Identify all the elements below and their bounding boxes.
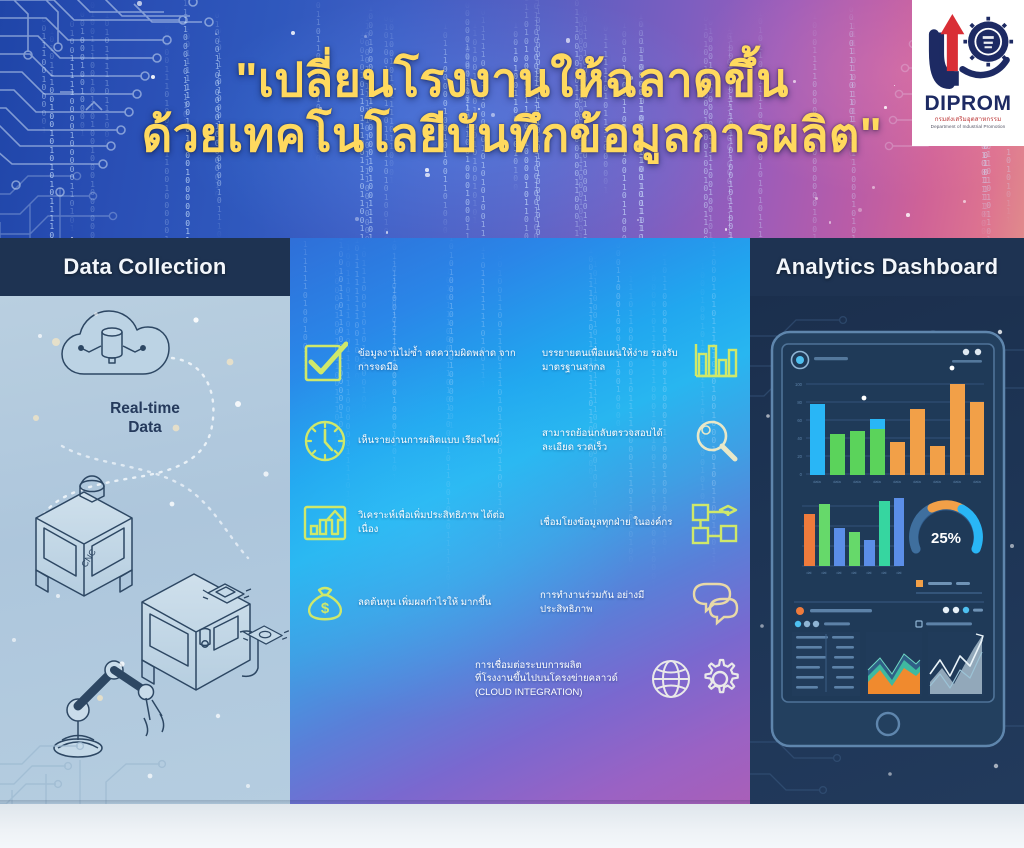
clock-icon — [302, 418, 348, 464]
factory-illustration: CNC — [0, 296, 290, 804]
magnifier-icon — [692, 418, 740, 464]
cloud-integration-line2: ที่โรงงานขึ้นไปบนโครงข่ายคลาวด์ — [475, 672, 640, 686]
bar-chart-icon — [692, 338, 740, 384]
bar-chart-up-icon — [302, 500, 348, 546]
cloud-integration-line3: (CLOUD INTEGRATION) — [475, 686, 640, 700]
logo-thai-name: กรมส่งเสริมอุตสาหกรรม — [935, 116, 1002, 124]
cloud-integration-text: การเชื่อมต่อระบบการผลิต ที่โรงงานขึ้นไปบ… — [475, 659, 640, 700]
logo-wordmark: DIPROM — [925, 93, 1012, 114]
analytics-dashboard-panel: 10080 6040 200 datada — [750, 296, 1024, 804]
footer-strip — [0, 804, 1024, 848]
benefit-item-5: บรรยายตนเพื่อแผนให้ง่าย รองรับมาตรฐานสาก… — [522, 338, 740, 384]
benefit-text-6: สามารถย้อนกลับตรวจสอบได้ ละเอียด รวดเร็ว — [542, 427, 682, 454]
data-collection-panel: CNC — [0, 296, 290, 804]
benefit-text-1: ข้อมูลงานไม่ซ้ำ ลดความผิดพลาด จากการจดมื… — [358, 347, 520, 374]
svg-text:$: $ — [321, 600, 330, 617]
benefit-text-5: บรรยายตนเพื่อแผนให้ง่าย รองรับมาตรฐานสาก… — [542, 347, 682, 374]
realtime-data-line2: Data — [0, 419, 290, 438]
title-line-1: "เปลี่ยนโรงงานให้ฉลาดขึ้น — [235, 53, 788, 106]
benefit-item-6: สามารถย้อนกลับตรวจสอบได้ ละเอียด รวดเร็ว — [522, 418, 740, 464]
benefit-item-1: ข้อมูลงานไม่ซ้ำ ลดความผิดพลาด จากการจดมื… — [302, 338, 520, 384]
logo-english-name: Department of Industrial Promotion — [931, 124, 1006, 130]
benefit-item-7: เชื่อมโยงข้อมูลทุกฝ่าย ในองค์กร — [522, 500, 740, 546]
diprom-logo-mark-icon — [922, 6, 1014, 92]
benefit-text-4: ลดต้นทุน เพิ่มผลกำไรให้ มากขึ้น — [358, 596, 491, 610]
benefit-item-8: การทำงานร่วมกัน อย่างมีประสิทธิภาพ — [522, 580, 740, 626]
panel-title-right: Analytics Dashboard — [776, 254, 999, 280]
benefit-item-3: วิเคราะห์เพื่อเพิ่มประสิทธิภาพ ได้ต่อเนื… — [302, 500, 520, 546]
infographic-poster: 0 1 1 1 1 1 1 0 1 0 1 1 1 1 0 0 0 0 0 1 … — [0, 0, 1024, 848]
benefit-item-2: เห็นรายงานการผลิตแบบ เรียลไทม์ — [302, 418, 520, 464]
realtime-data-label: Real-time Data — [0, 400, 290, 438]
check-box-icon — [302, 338, 348, 384]
panel-header-analytics-dashboard: Analytics Dashboard — [750, 238, 1024, 296]
benefit-item-cloud-integration: การเชื่อมต่อระบบการผลิต ที่โรงงานขึ้นไปบ… — [302, 656, 742, 702]
title-line-2: ด้วยเทคโนโลยีบันทึกข้อมูลการผลิต" — [0, 107, 1024, 162]
benefit-text-8: การทำงานร่วมกัน อย่างมีประสิทธิภาพ — [540, 589, 680, 616]
gear-icon — [698, 656, 742, 702]
benefit-item-4: $ ลดต้นทุน เพิ่มผลกำไรให้ มากขึ้น — [302, 580, 520, 626]
benefit-text-3: วิเคราะห์เพื่อเพิ่มประสิทธิภาพ ได้ต่อเนื… — [358, 509, 520, 536]
globe-icon — [648, 656, 694, 702]
benefits-panel: 1 1 0 0 1 0 1 1 0 1 1 0 0 0 1 1 0 0 0 0 … — [290, 238, 750, 804]
page-title: "เปลี่ยนโรงงานให้ฉลาดขึ้น ด้วยเทคโนโลยีบ… — [0, 52, 1024, 163]
diprom-logo: DIPROM กรมส่งเสริมอุตสาหกรรม Department … — [912, 0, 1024, 146]
ambient-dots — [750, 296, 1024, 804]
flow-chart-icon — [690, 500, 740, 546]
speech-bubbles-icon — [690, 580, 740, 626]
cloud-integration-line1: การเชื่อมต่อระบบการผลิต — [475, 659, 640, 673]
hero-banner: 0 1 1 1 1 1 1 0 1 0 1 1 1 1 0 0 0 0 0 1 … — [0, 0, 1024, 238]
benefit-text-7: เชื่อมโยงข้อมูลทุกฝ่าย ในองค์กร — [540, 516, 680, 530]
panel-title-left: Data Collection — [63, 254, 226, 280]
realtime-data-line1: Real-time — [0, 400, 290, 419]
panel-header-data-collection: Data Collection — [0, 238, 290, 296]
benefit-text-2: เห็นรายงานการผลิตแบบ เรียลไทม์ — [358, 434, 499, 448]
money-bag-icon: $ — [302, 580, 348, 626]
